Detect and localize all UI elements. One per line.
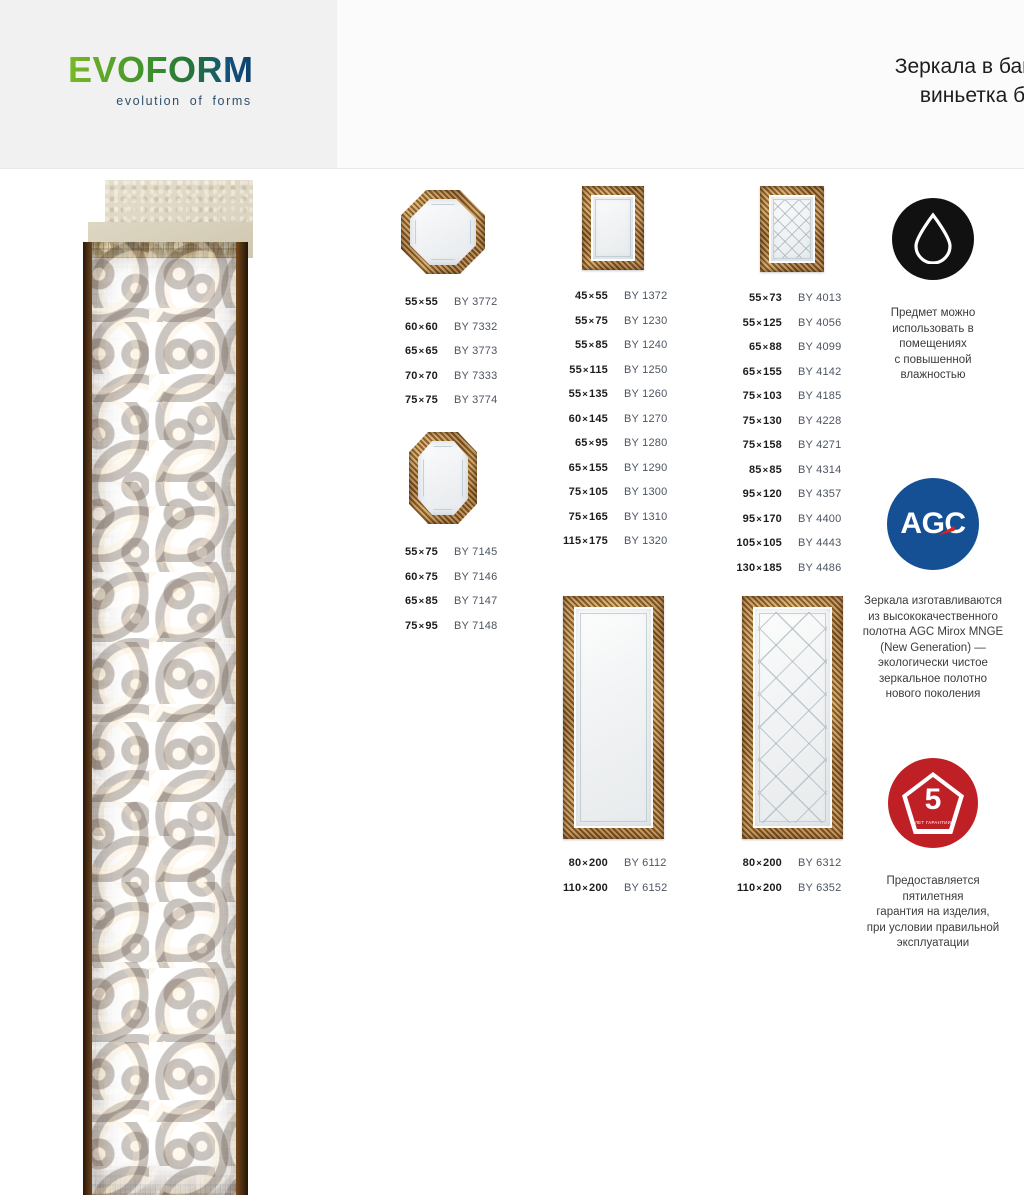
- frame-sample-photo: [83, 180, 253, 1015]
- guarantee-number: 5: [925, 785, 942, 815]
- brand-name: EVOFORM: [68, 52, 254, 88]
- rectangular-mirror-icon: [582, 186, 644, 270]
- product-code: BY 1250: [608, 364, 667, 376]
- product-code: BY 1270: [608, 413, 667, 425]
- size-dimensions: 55×73: [712, 292, 782, 304]
- product-code: BY 1310: [608, 511, 667, 523]
- size-row[interactable]: 60×60BY 7332: [368, 321, 518, 346]
- product-code: BY 1372: [608, 290, 667, 302]
- size-row[interactable]: 75×103BY 4185: [712, 390, 872, 415]
- size-row[interactable]: 55×75BY 7145: [368, 546, 518, 571]
- page-title-line1: Зеркала в багетной раме: [674, 52, 1024, 81]
- product-code: BY 7147: [438, 595, 497, 607]
- product-code: BY 4099: [782, 341, 841, 353]
- size-dimensions: 65×65: [368, 345, 438, 357]
- size-row[interactable]: 55×55BY 3772: [368, 296, 518, 321]
- mirror-glass: [769, 195, 815, 263]
- header-divider: [0, 168, 1024, 169]
- size-dimensions: 55×115: [538, 364, 608, 376]
- product-code: BY 1240: [608, 339, 667, 351]
- size-list-octagon-vertical: 55×75BY 714560×75BY 714665×85BY 714775×9…: [368, 546, 518, 644]
- size-dimensions: 60×75: [368, 571, 438, 583]
- mirror-glass: [410, 199, 476, 265]
- product-code: BY 6352: [782, 882, 841, 894]
- size-row[interactable]: 55×75BY 1230: [538, 315, 688, 340]
- size-dimensions: 105×105: [712, 537, 782, 549]
- page-title-line2: виньетка бронзовая: [674, 81, 1024, 110]
- size-row[interactable]: 75×165BY 1310: [538, 511, 688, 536]
- size-dimensions: 95×170: [712, 513, 782, 525]
- pentagon-inner: 5 ЛЕТ ГАРАНТИИ: [907, 777, 959, 829]
- product-code: BY 4056: [782, 317, 841, 329]
- product-code: BY 4271: [782, 439, 841, 451]
- size-row[interactable]: 65×95BY 1280: [538, 437, 688, 462]
- size-dimensions: 85×85: [712, 464, 782, 476]
- size-dimensions: 75×95: [368, 620, 438, 632]
- rectangular-mirror-lattice-icon: [760, 186, 824, 272]
- page-title: Зеркала в багетной раме виньетка бронзов…: [674, 52, 1024, 110]
- product-group-octagon-vertical[interactable]: 55×75BY 714560×75BY 714665×85BY 714775×9…: [368, 432, 518, 644]
- size-dimensions: 115×175: [538, 535, 608, 547]
- size-list-floor-plain: 80×200BY 6112110×200BY 6152: [538, 857, 688, 906]
- product-code: BY 7145: [438, 546, 497, 558]
- brand-logo: EVOFORM evolution of forms: [68, 52, 308, 108]
- product-code: BY 7333: [438, 370, 497, 382]
- octagon-mirror-icon: [401, 190, 485, 274]
- frame-carving-texture-overlay: [83, 242, 248, 1195]
- product-code: BY 3772: [438, 296, 497, 308]
- size-row[interactable]: 60×145BY 1270: [538, 413, 688, 438]
- product-group-floor-plain[interactable]: 80×200BY 6112110×200BY 6152: [538, 596, 688, 906]
- product-code: BY 4185: [782, 390, 841, 402]
- size-list-rectangular-plain: 45×55BY 137255×75BY 123055×85BY 124055×1…: [538, 290, 688, 560]
- size-dimensions: 55×75: [368, 546, 438, 558]
- product-code: BY 7146: [438, 571, 497, 583]
- thumbnail-floor-plain[interactable]: [538, 596, 688, 839]
- product-code: BY 3773: [438, 345, 497, 357]
- size-dimensions: 110×200: [712, 882, 782, 894]
- feature-guarantee-text: Предоставляетсяпятилетняягарантия на изд…: [840, 874, 1024, 952]
- size-row[interactable]: 65×155BY 1290: [538, 462, 688, 487]
- mirror-glass: [574, 607, 653, 828]
- mirror-bevel: [773, 199, 811, 259]
- product-code: BY 4443: [782, 537, 841, 549]
- size-dimensions: 65×85: [368, 595, 438, 607]
- size-dimensions: 65×155: [538, 462, 608, 474]
- feature-moisture-text: Предмет можноиспользовать впомещенияхс п…: [840, 306, 1024, 384]
- product-code: BY 1260: [608, 388, 667, 400]
- mirror-bevel: [595, 199, 631, 257]
- size-row[interactable]: 75×75BY 3774: [368, 394, 518, 419]
- product-code: BY 1320: [608, 535, 667, 547]
- product-code: BY 4314: [782, 464, 841, 476]
- size-dimensions: 75×105: [538, 486, 608, 498]
- product-code: BY 1280: [608, 437, 667, 449]
- size-row[interactable]: 45×55BY 1372: [538, 290, 688, 315]
- size-dimensions: 65×155: [712, 366, 782, 378]
- product-code: BY 6312: [782, 857, 841, 869]
- size-row[interactable]: 115×175BY 1320: [538, 535, 688, 560]
- product-code: BY 4142: [782, 366, 841, 378]
- size-row[interactable]: 75×130BY 4228: [712, 415, 872, 440]
- size-dimensions: 60×60: [368, 321, 438, 333]
- agc-logo-icon: AGC: [887, 478, 979, 570]
- size-row[interactable]: 60×75BY 7146: [368, 571, 518, 596]
- feature-agc-text: Зеркала изготавливаютсяиз высококачестве…: [840, 594, 1024, 703]
- thumbnail-octagon-square[interactable]: [368, 190, 518, 274]
- thumbnail-octagon-vertical[interactable]: [368, 432, 518, 524]
- size-dimensions: 75×103: [712, 390, 782, 402]
- feature-guarantee: 5 ЛЕТ ГАРАНТИИ Предоставляетсяпятилетняя…: [840, 758, 1024, 952]
- product-code: BY 6112: [608, 857, 667, 869]
- brand-tagline: evolution of forms: [68, 94, 300, 108]
- product-code: BY 1300: [608, 486, 667, 498]
- octagon-mirror-tall-icon: [409, 432, 477, 524]
- catalog-page: EVOFORM evolution of forms Зеркала в баг…: [0, 0, 1024, 1024]
- mirror-glass: [591, 195, 635, 261]
- frame-moulding: [83, 242, 248, 1195]
- size-row[interactable]: 65×65BY 3773: [368, 345, 518, 370]
- feature-agc-glass: AGC Зеркала изготавливаютсяиз высококаче…: [840, 478, 1024, 703]
- size-dimensions: 95×120: [712, 488, 782, 500]
- frame-edge-left: [83, 242, 92, 1195]
- product-group-octagon-square[interactable]: 55×55BY 377260×60BY 733265×65BY 377370×7…: [368, 190, 518, 419]
- product-code: BY 6152: [608, 882, 667, 894]
- mirror-bevel: [580, 613, 647, 822]
- size-dimensions: 55×55: [368, 296, 438, 308]
- size-dimensions: 45×55: [538, 290, 608, 302]
- floor-mirror-lattice-icon: [742, 596, 843, 839]
- mirror-bevel: [759, 613, 826, 822]
- mirror-glass: [753, 607, 832, 828]
- size-dimensions: 110×200: [538, 882, 608, 894]
- size-dimensions: 55×85: [538, 339, 608, 351]
- size-row[interactable]: 75×105BY 1300: [538, 486, 688, 511]
- product-code: BY 4228: [782, 415, 841, 427]
- size-row[interactable]: 55×115BY 1250: [538, 364, 688, 389]
- product-code: BY 7148: [438, 620, 497, 632]
- size-row[interactable]: 110×200BY 6152: [538, 882, 688, 907]
- product-group-rectangular-plain[interactable]: 45×55BY 137255×75BY 123055×85BY 124055×1…: [538, 186, 688, 560]
- size-dimensions: 130×185: [712, 562, 782, 574]
- product-code: BY 4486: [782, 562, 841, 574]
- size-dimensions: 55×75: [538, 315, 608, 327]
- water-drop-glyph: [912, 212, 954, 264]
- size-dimensions: 80×200: [712, 857, 782, 869]
- size-dimensions: 75×75: [368, 394, 438, 406]
- product-code: BY 7332: [438, 321, 497, 333]
- page-header: EVOFORM evolution of forms Зеркала в баг…: [0, 0, 1024, 168]
- product-code: BY 1290: [608, 462, 667, 474]
- size-row[interactable]: 55×135BY 1260: [538, 388, 688, 413]
- frame-edge-right: [236, 242, 248, 1195]
- size-dimensions: 80×200: [538, 857, 608, 869]
- floor-mirror-icon: [563, 596, 664, 839]
- size-dimensions: 55×135: [538, 388, 608, 400]
- thumbnail-rectangular-plain[interactable]: [538, 186, 688, 270]
- pentagon-badge: 5 ЛЕТ ГАРАНТИИ: [902, 772, 964, 834]
- mirror-glass: [418, 441, 468, 515]
- size-row[interactable]: 80×200BY 6112: [538, 857, 688, 882]
- size-row[interactable]: 70×70BY 7333: [368, 370, 518, 395]
- size-dimensions: 75×158: [712, 439, 782, 451]
- header-logo-panel: EVOFORM evolution of forms: [0, 0, 337, 168]
- product-code: BY 1230: [608, 315, 667, 327]
- size-dimensions: 75×165: [538, 511, 608, 523]
- size-dimensions: 75×130: [712, 415, 782, 427]
- size-list-octagon-square: 55×55BY 377260×60BY 733265×65BY 377370×7…: [368, 296, 518, 419]
- header-title-panel: Зеркала в багетной раме виньетка бронзов…: [337, 0, 1024, 168]
- size-dimensions: 65×88: [712, 341, 782, 353]
- feature-moisture-resistant: Предмет можноиспользовать впомещенияхс п…: [840, 198, 1024, 384]
- size-row[interactable]: 75×95BY 7148: [368, 620, 518, 645]
- size-row[interactable]: 65×85BY 7147: [368, 595, 518, 620]
- five-year-guarantee-icon: 5 ЛЕТ ГАРАНТИИ: [888, 758, 978, 848]
- product-code: BY 3774: [438, 394, 497, 406]
- size-row[interactable]: 55×85BY 1240: [538, 339, 688, 364]
- product-code: BY 4400: [782, 513, 841, 525]
- size-dimensions: 60×145: [538, 413, 608, 425]
- agc-logo-text: AGC: [887, 478, 979, 570]
- product-code: BY 4357: [782, 488, 841, 500]
- size-dimensions: 65×95: [538, 437, 608, 449]
- size-row[interactable]: 75×158BY 4271: [712, 439, 872, 464]
- water-drop-icon: [892, 198, 974, 280]
- product-code: BY 4013: [782, 292, 841, 304]
- size-dimensions: 55×125: [712, 317, 782, 329]
- size-dimensions: 70×70: [368, 370, 438, 382]
